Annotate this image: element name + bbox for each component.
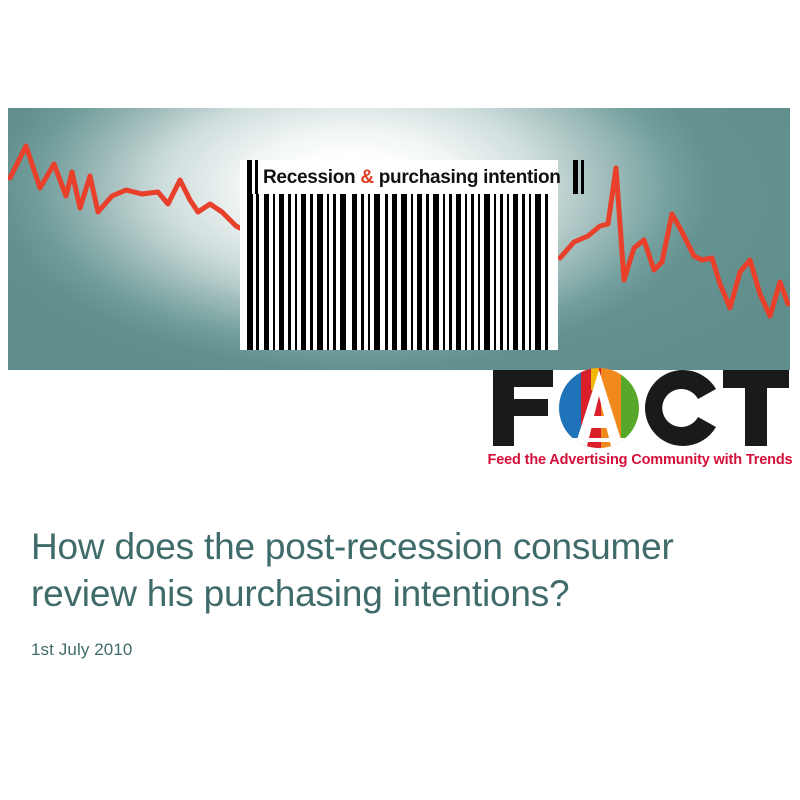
fact-logo-mark [487, 366, 793, 450]
title-block: How does the post-recession consumer rev… [31, 524, 761, 660]
barcode-title-suffix: purchasing intention [374, 167, 561, 188]
page-title-line-1: How does the post-recession consumer [31, 526, 674, 567]
wheel-segment-green [621, 368, 641, 448]
barcode-bars [240, 194, 558, 350]
page-title: How does the post-recession consumer rev… [31, 524, 761, 618]
fact-logo-tagline: Feed the Advertising Community with Tren… [487, 452, 793, 468]
barcode-guard-bar-left-outer [247, 160, 252, 194]
fact-logo: Feed the Advertising Community with Tren… [487, 366, 793, 478]
barcode-bars-svg [240, 194, 558, 350]
fact-wordmark-svg [487, 366, 793, 450]
wheel-segment-blue [559, 368, 581, 448]
presentation-date: 1st July 2010 [31, 640, 761, 660]
wheel-baseline-gap [559, 438, 639, 442]
logo-letter-a-wheel [559, 368, 641, 448]
logo-letter-f [493, 370, 553, 446]
barcode-label: Recession & purchasing intention [240, 160, 558, 194]
page-title-line-2: review his purchasing intentions? [31, 573, 569, 614]
barcode: Recession & purchasing intention [240, 160, 558, 350]
barcode-guard-bar-right-inner [573, 160, 578, 194]
barcode-title-prefix: Recession [263, 167, 360, 188]
barcode-guard-bar-right-outer [581, 160, 584, 194]
barcode-title: Recession & purchasing intention [258, 168, 566, 187]
recession-banner: Recession & purchasing intention [8, 108, 790, 370]
trend-line-right [560, 168, 788, 316]
logo-letter-c [645, 370, 716, 446]
logo-letter-t [723, 370, 789, 446]
barcode-title-ampersand: & [360, 167, 373, 188]
